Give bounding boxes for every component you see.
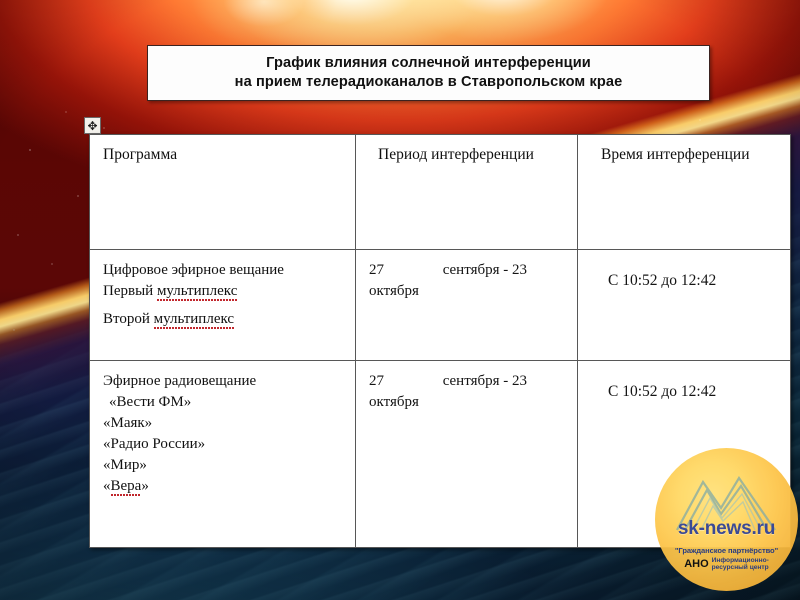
period-rest: сентября - 23 [443,371,527,392]
list-item: «Маяк» [103,413,346,434]
quote-open: « [103,478,111,494]
watermark-tagline: "Гражданское партнёрство" [655,546,798,555]
table-header-cell-period: Период интерференции [356,135,578,250]
table-header-row: Программа Период интерференции Время инт… [90,135,791,250]
period-day: 27 [369,371,384,392]
cell-period-radio: 27 сентября - 23 октября [356,361,578,548]
list-item: Первый мультиплекс [103,281,346,302]
period-value-radio: 27 сентября - 23 октября [369,371,568,413]
table-header-cell-time: Время интерференции [578,135,791,250]
quote-close: » [141,478,149,494]
list-item: «Мир» [103,455,346,476]
watermark-site-text: sk-news.ru [655,518,798,540]
list-item: Второй мультиплекс [103,309,346,330]
period-line-1: 27 сентября - 23 [369,371,527,392]
period-line-1: 27 сентября - 23 [369,260,527,281]
period-day: 27 [369,260,384,281]
cell-program-radio: Эфирное радиовещание «Вести ФМ» «Маяк» «… [90,361,356,548]
move-arrows-glyph: ✥ [87,120,97,132]
program-list-digital: Цифровое эфирное вещание Первый мультипл… [103,260,346,330]
watermark-org: АНО Информационно- ресурсный центр [655,557,798,572]
period-value-digital: 27 сентября - 23 октября [369,260,568,302]
time-value-radio: С 10:52 до 12:42 [591,371,781,402]
period-rest: сентября - 23 [443,260,527,281]
table-row: Цифровое эфирное вещание Первый мультипл… [90,250,791,361]
list-item: «Радио России» [103,434,346,455]
list-item: Цифровое эфирное вещание [103,260,346,281]
cell-period-digital: 27 сентября - 23 октября [356,250,578,361]
table-move-handle-icon[interactable]: ✥ [84,117,101,134]
list-item: «Вести ФМ» [103,392,346,413]
time-value-digital: С 10:52 до 12:42 [591,260,781,291]
watermark-logo: sk-news.ru "Гражданское партнёрство" АНО… [655,448,798,591]
column-header-program: Программа [103,145,346,164]
period-line-2: октября [369,392,544,413]
program-list-radio: Эфирное радиовещание «Вести ФМ» «Маяк» «… [103,371,346,497]
spellcheck-word: Вера [111,478,142,496]
spellcheck-word: мультиплекс [157,283,237,301]
cell-time-digital: С 10:52 до 12:42 [578,250,791,361]
multiplex-first-prefix: Первый [103,283,157,299]
page-title: График влияния солнечной интерференции н… [229,54,629,92]
slide-canvas: График влияния солнечной интерференции н… [0,0,800,600]
watermark-org-name: Информационно- ресурсный центр [712,557,769,572]
column-header-time: Время интерференции [591,145,781,164]
multiplex-second-prefix: Второй [103,311,154,327]
slide-title-box: График влияния солнечной интерференции н… [147,45,710,101]
cell-program-digital: Цифровое эфирное вещание Первый мультипл… [90,250,356,361]
watermark-org-abbr: АНО [684,558,708,570]
table-header-cell-program: Программа [90,135,356,250]
list-item: Эфирное радиовещание [103,371,346,392]
spellcheck-word: мультиплекс [154,311,234,329]
period-line-2: октября [369,281,544,302]
column-header-period: Период интерференции [369,145,568,164]
list-item: «Вера» [103,476,346,497]
